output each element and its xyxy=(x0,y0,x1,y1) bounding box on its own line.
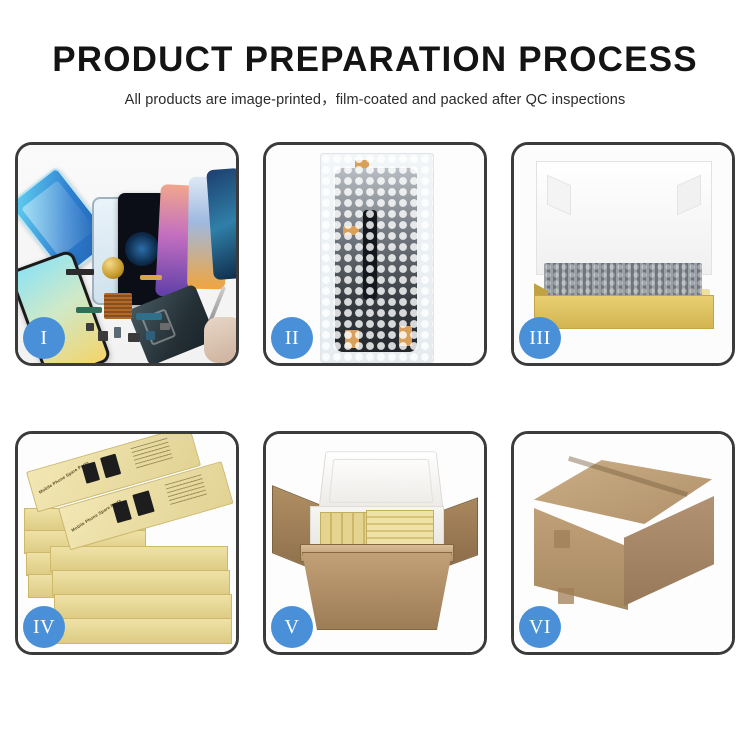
small-part-1 xyxy=(86,323,94,331)
stacked-box-r2 xyxy=(52,570,230,596)
speaker-component xyxy=(102,257,124,279)
panel-step-2[interactable]: II xyxy=(263,142,487,366)
badge-step-3: III xyxy=(519,317,561,359)
small-part-4 xyxy=(128,333,140,342)
badge-step-1: I xyxy=(23,317,65,359)
small-part-2 xyxy=(98,331,108,341)
hand xyxy=(204,317,236,363)
box-phone-image-2b xyxy=(132,490,154,516)
box-front-panel-yellow xyxy=(534,295,714,329)
foam-lid xyxy=(318,451,444,512)
carton-body xyxy=(302,552,452,630)
logic-board-component xyxy=(104,293,132,319)
infographic-page: PRODUCT PREPARATION PROCESS All products… xyxy=(0,0,750,750)
carton-tape-lower xyxy=(558,588,574,604)
lid-flap-right xyxy=(677,175,701,216)
panel-step-1[interactable]: I xyxy=(15,142,239,366)
carton-tape-upper xyxy=(554,530,570,548)
header: PRODUCT PREPARATION PROCESS All products… xyxy=(0,0,750,110)
bubble-wrap-package xyxy=(320,153,434,363)
box-phone-image-1a xyxy=(81,462,100,484)
process-panel-grid: I II xyxy=(15,142,735,679)
badge-step-4: IV xyxy=(23,606,65,648)
panel-step-5[interactable]: V xyxy=(263,431,487,655)
box-phone-image-2a xyxy=(112,500,132,523)
small-part-6 xyxy=(160,323,170,330)
stacked-box-r1 xyxy=(50,546,228,572)
small-part-5 xyxy=(146,331,155,340)
badge-step-6: VI xyxy=(519,606,561,648)
bubble-wrapped-contents xyxy=(544,263,702,297)
panel-step-4[interactable]: Mobile Phone Spare Parts Mobile Phone Sp… xyxy=(15,431,239,655)
flex-cable-3 xyxy=(136,313,162,320)
small-part-3 xyxy=(114,327,121,338)
box-lid-white xyxy=(536,161,712,275)
bubble-texture xyxy=(321,154,433,362)
connector-strip xyxy=(66,269,94,275)
badge-step-2: II xyxy=(271,317,313,359)
page-subtitle: All products are image-printed，film-coat… xyxy=(0,91,750,110)
flex-cable-2 xyxy=(140,275,162,280)
badge-step-5: V xyxy=(271,606,313,648)
panel-step-3[interactable]: III xyxy=(511,142,735,366)
stacked-box-r3 xyxy=(54,594,232,620)
flex-cable-1 xyxy=(76,307,102,313)
lid-flap-left xyxy=(547,175,571,216)
stacked-box-r4 xyxy=(56,618,232,644)
box-spec-lines-1 xyxy=(131,438,174,470)
panel-step-6[interactable]: VI xyxy=(511,431,735,655)
box-spec-lines-2 xyxy=(165,474,208,506)
box-phone-image-1b xyxy=(100,454,121,479)
page-title: PRODUCT PREPARATION PROCESS xyxy=(0,40,750,80)
